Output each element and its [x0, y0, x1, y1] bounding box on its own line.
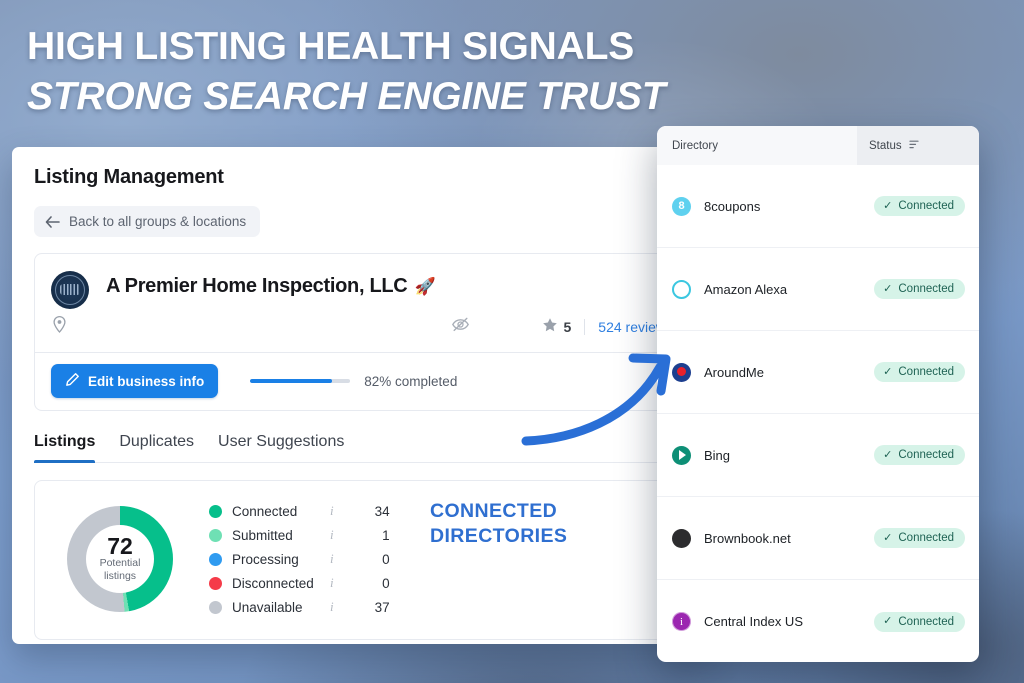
directory-row[interactable]: Brownbook.net✓Connected — [657, 497, 979, 580]
column-header-directory[interactable]: Directory — [657, 126, 857, 165]
column-header-status-label: Status — [869, 140, 902, 152]
status-label: Connected — [898, 616, 954, 628]
status-badge: ✓Connected — [874, 279, 965, 299]
legend-color-dot — [209, 505, 222, 518]
status-label: Connected — [898, 283, 954, 295]
check-icon: ✓ — [883, 367, 892, 378]
arrow-left-icon — [45, 216, 60, 228]
status-badge: ✓Connected — [874, 196, 965, 216]
profile-completion-progress: 82% completed — [250, 374, 457, 389]
directory-name: Brownbook.net — [704, 531, 874, 546]
legend-value: 1 — [334, 528, 390, 543]
directory-name: Amazon Alexa — [704, 282, 874, 297]
column-header-status[interactable]: Status — [857, 126, 979, 165]
status-label: Connected — [898, 449, 954, 461]
directory-row[interactable]: AroundMe✓Connected — [657, 331, 979, 414]
legend-label: Submitted — [232, 528, 328, 543]
donut-center-value: 72 — [107, 535, 133, 557]
rating: 5 — [542, 317, 585, 338]
tab-label: User Suggestions — [218, 433, 344, 450]
star-icon — [542, 317, 558, 338]
donut-center-label: Potential listings — [100, 557, 141, 583]
listings-donut-chart: 72 Potential listings — [67, 506, 173, 612]
legend-row: Disconnectedi0 — [209, 575, 390, 591]
directory-name: Bing — [704, 448, 874, 463]
headline-line-2: STRONG SEARCH ENGINE TRUST — [27, 72, 665, 122]
pencil-icon — [65, 372, 80, 390]
status-badge: ✓Connected — [874, 612, 965, 632]
amazon-alexa-icon — [672, 280, 691, 299]
status-badge: ✓Connected — [874, 528, 965, 548]
legend-value: 0 — [334, 552, 390, 567]
tab-duplicates[interactable]: Duplicates — [119, 433, 194, 462]
brownbook-icon — [672, 529, 691, 548]
legend-color-dot — [209, 529, 222, 542]
legend-color-dot — [209, 553, 222, 566]
back-to-groups-button[interactable]: Back to all groups & locations — [34, 206, 260, 237]
rocket-icon: 🚀 — [414, 277, 435, 296]
progress-track — [250, 379, 350, 383]
directory-name: AroundMe — [704, 365, 874, 380]
central-index-icon — [672, 612, 691, 631]
directory-row[interactable]: Bing✓Connected — [657, 414, 979, 497]
legend-value: 34 — [334, 504, 390, 519]
tab-label: Listings — [34, 433, 95, 450]
progress-fill — [250, 379, 332, 383]
connected-directories-annotation: CONNECTED DIRECTORIES — [430, 499, 567, 549]
legend-label: Processing — [232, 552, 328, 567]
legend-label: Unavailable — [232, 600, 328, 615]
directory-name: Central Index US — [704, 614, 874, 629]
annotation-line-1: CONNECTED — [430, 499, 567, 524]
location-pin-icon — [51, 315, 68, 339]
back-button-label: Back to all groups & locations — [69, 214, 246, 229]
legend-row: Unavailablei37 — [209, 599, 390, 615]
directory-row[interactable]: 8coupons✓Connected — [657, 165, 979, 248]
hidden-eye-off-icon[interactable] — [451, 316, 470, 338]
edit-business-info-button[interactable]: Edit business info — [51, 364, 218, 398]
headline-line-1: HIGH LISTING HEALTH SIGNALS — [27, 22, 665, 72]
directory-row[interactable]: Amazon Alexa✓Connected — [657, 248, 979, 331]
page-title: Listing Management — [34, 147, 690, 189]
status-badge: ✓Connected — [874, 445, 965, 465]
check-icon: ✓ — [883, 201, 892, 212]
progress-label: 82% completed — [364, 374, 457, 389]
annotation-line-2: DIRECTORIES — [430, 524, 567, 549]
listings-stats-card: 72 Potential listings Connectedi34Submit… — [34, 480, 690, 640]
chart-legend: Connectedi34Submittedi1Processingi0Disco… — [209, 503, 390, 615]
directory-row[interactable]: Central Index US✓Connected — [657, 580, 979, 662]
status-label: Connected — [898, 200, 954, 212]
donut-center: 72 Potential listings — [86, 525, 154, 593]
edit-business-info-label: Edit business info — [88, 374, 204, 389]
directory-table-header: Directory Status — [657, 126, 979, 165]
tab-label: Duplicates — [119, 433, 194, 450]
business-logo-avatar — [51, 271, 89, 309]
tab-listings[interactable]: Listings — [34, 433, 95, 462]
rating-value: 5 — [564, 319, 572, 335]
status-badge: ✓Connected — [874, 362, 965, 382]
legend-label: Disconnected — [232, 576, 328, 591]
directory-row-list: 8coupons✓ConnectedAmazon Alexa✓Connected… — [657, 165, 979, 662]
legend-row: Submittedi1 — [209, 527, 390, 543]
legend-row: Connectedi34 — [209, 503, 390, 519]
status-label: Connected — [898, 366, 954, 378]
headline: HIGH LISTING HEALTH SIGNALS STRONG SEARC… — [27, 22, 665, 122]
check-icon: ✓ — [883, 533, 892, 544]
directory-panel: Directory Status 8coupons✓ConnectedAmazo… — [657, 126, 979, 662]
legend-row: Processingi0 — [209, 551, 390, 567]
legend-color-dot — [209, 601, 222, 614]
sort-icon[interactable] — [909, 139, 921, 153]
legend-value: 37 — [334, 600, 390, 615]
check-icon: ✓ — [883, 284, 892, 295]
check-icon: ✓ — [883, 450, 892, 461]
check-icon: ✓ — [883, 616, 892, 627]
annotation-arrow-icon — [520, 345, 690, 455]
status-label: Connected — [898, 532, 954, 544]
legend-value: 0 — [334, 576, 390, 591]
tab-user-suggestions[interactable]: User Suggestions — [218, 433, 344, 462]
business-name: A Premier Home Inspection, LLC🚀 — [106, 267, 435, 306]
legend-label: Connected — [232, 504, 328, 519]
8coupons-icon — [672, 197, 691, 216]
directory-name: 8coupons — [704, 199, 874, 214]
legend-color-dot — [209, 577, 222, 590]
